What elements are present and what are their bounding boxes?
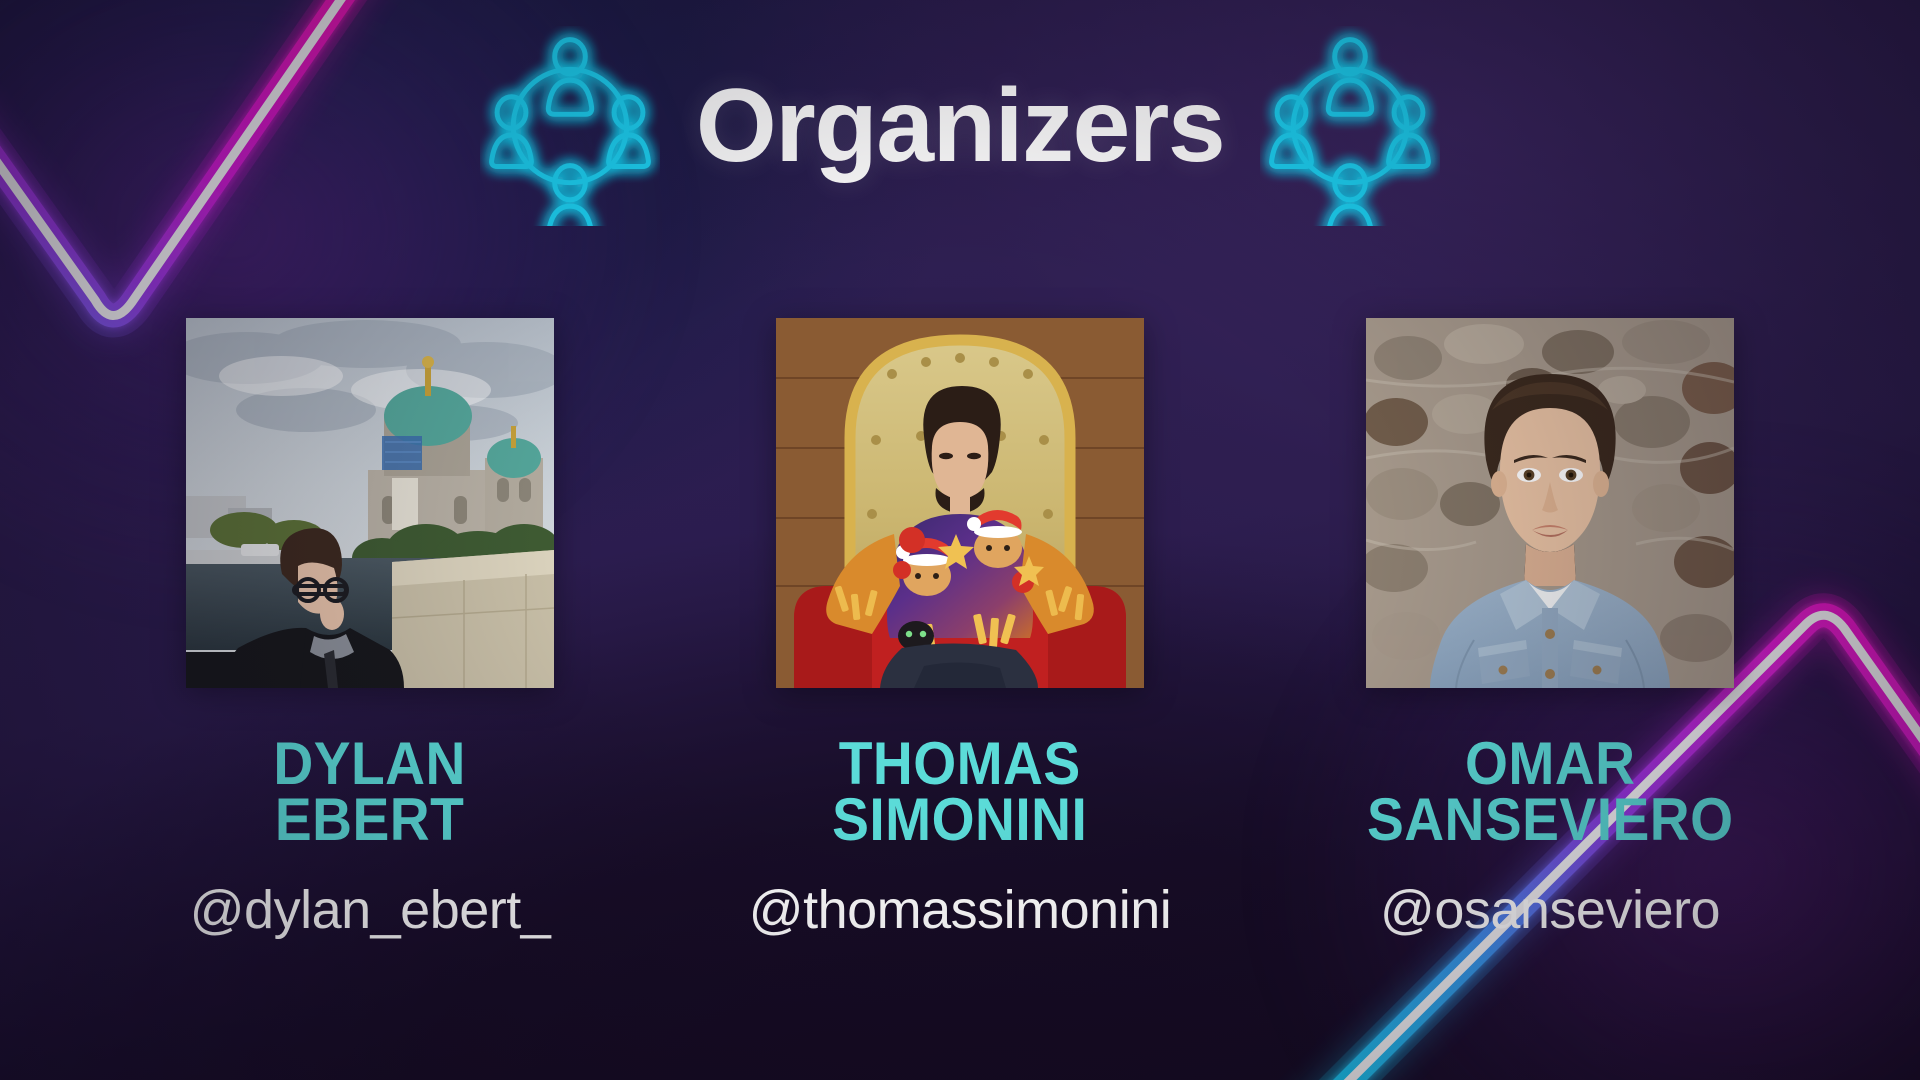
slide-root: Organizers <box>0 0 1920 1080</box>
organizer-handle: @thomassimonini <box>749 879 1171 941</box>
organizer-handle: @dylan_ebert_ <box>190 879 551 941</box>
organizer-name: OMAR SANSEVIERO <box>1367 736 1734 849</box>
people-circle-icon <box>480 26 660 226</box>
people-circle-icon <box>1260 26 1440 226</box>
organizers-list: DYLAN EBERT @dylan_ebert_ <box>0 318 1920 941</box>
organizer-name: DYLAN EBERT <box>274 736 466 849</box>
omar-sanseviero-photo <box>1366 318 1734 688</box>
dylan-ebert-photo <box>186 318 554 688</box>
organizer-name: THOMAS SIMONINI <box>832 736 1087 849</box>
organizer-handle: @osanseviero <box>1380 879 1720 941</box>
organizer-card: THOMAS SIMONINI @thomassimonini <box>665 318 1255 941</box>
thomas-simonini-photo <box>776 318 1144 688</box>
organizer-card: OMAR SANSEVIERO @osanseviero <box>1255 318 1845 941</box>
page-title: Organizers <box>696 74 1224 178</box>
slide-header: Organizers <box>0 18 1920 233</box>
organizer-card: DYLAN EBERT @dylan_ebert_ <box>75 318 665 941</box>
